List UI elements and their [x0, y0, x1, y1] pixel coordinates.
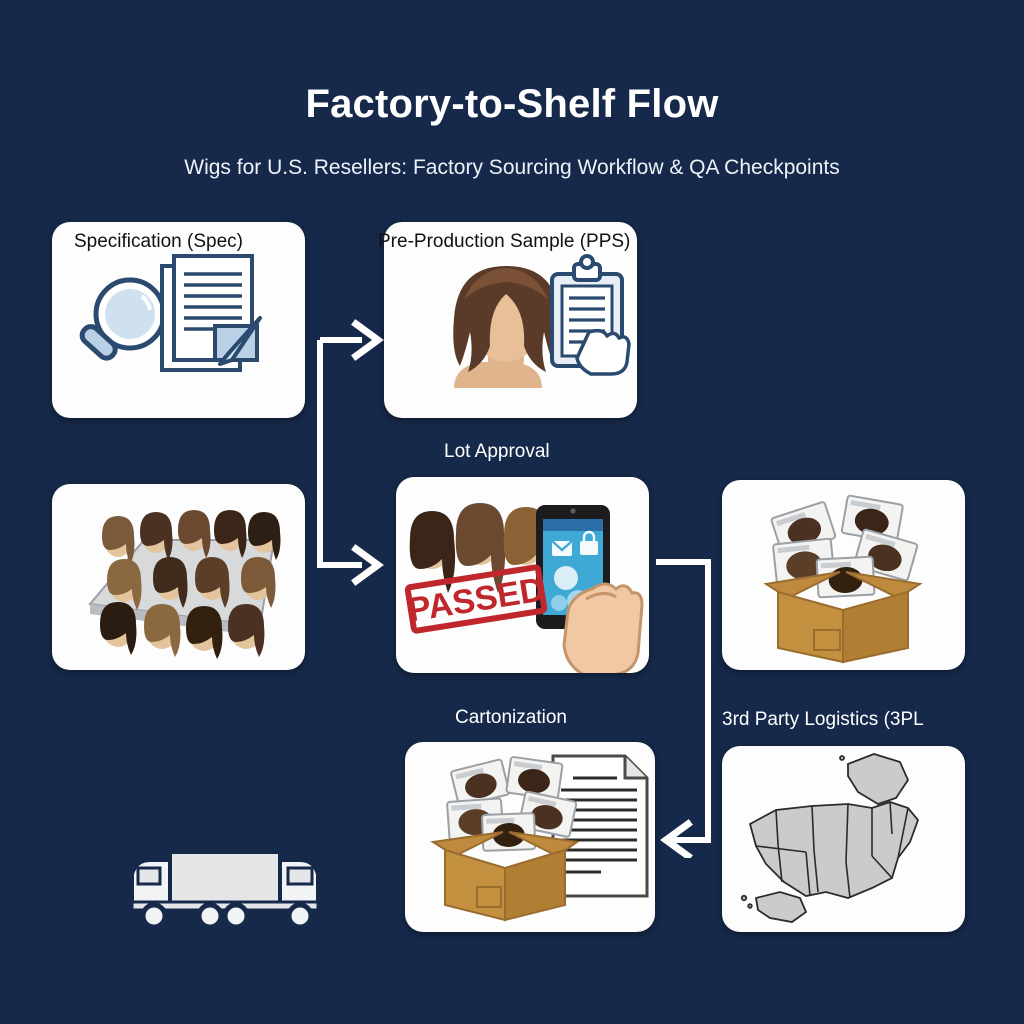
- qa-clipboard-icon: [552, 256, 629, 374]
- carton-with-polybags-icon: [722, 480, 965, 670]
- card-third-party-logistics[interactable]: [722, 746, 965, 932]
- card-lot-approval[interactable]: PASSED: [396, 477, 649, 673]
- card-label-specification: Specification (Spec): [74, 232, 243, 251]
- passed-stamp-icon: PASSED: [405, 567, 547, 632]
- delivery-truck-icon: [118, 838, 338, 938]
- card-cartonization-art: [405, 742, 655, 932]
- wig-tray-icon: [52, 484, 305, 670]
- card-packaging-art: [722, 480, 965, 670]
- page-subtitle: Wigs for U.S. Resellers: Factory Sourcin…: [0, 156, 1024, 180]
- card-label-lot-approval: Lot Approval: [444, 442, 550, 461]
- tablet-in-hand-icon: [536, 505, 642, 673]
- card-packaging[interactable]: [722, 480, 965, 670]
- infographic-canvas: Factory-to-Shelf Flow Wigs for U.S. Rese…: [0, 0, 1024, 1024]
- connector-lot-approval-to-cartonization: [650, 548, 730, 858]
- card-label-cartonization: Cartonization: [455, 708, 567, 727]
- card-3pl-art: [722, 746, 965, 932]
- document-with-pen-icon: [162, 256, 260, 370]
- mannequin-wig-icon: [453, 266, 561, 388]
- card-label-pre-production-sample: Pre-Production Sample (PPS): [378, 232, 630, 251]
- carton-with-polybags-icon: [433, 757, 577, 920]
- card-label-third-party-logistics: 3rd Party Logistics (3PL: [722, 710, 924, 729]
- card-bulk-production-art: [52, 484, 305, 670]
- page-title: Factory-to-Shelf Flow: [0, 82, 1024, 127]
- magnifier-icon: [79, 280, 164, 361]
- card-bulk-production[interactable]: [52, 484, 305, 670]
- card-lot-approval-art: PASSED: [396, 477, 649, 673]
- usa-map-icon: [722, 746, 965, 932]
- card-cartonization[interactable]: [405, 742, 655, 932]
